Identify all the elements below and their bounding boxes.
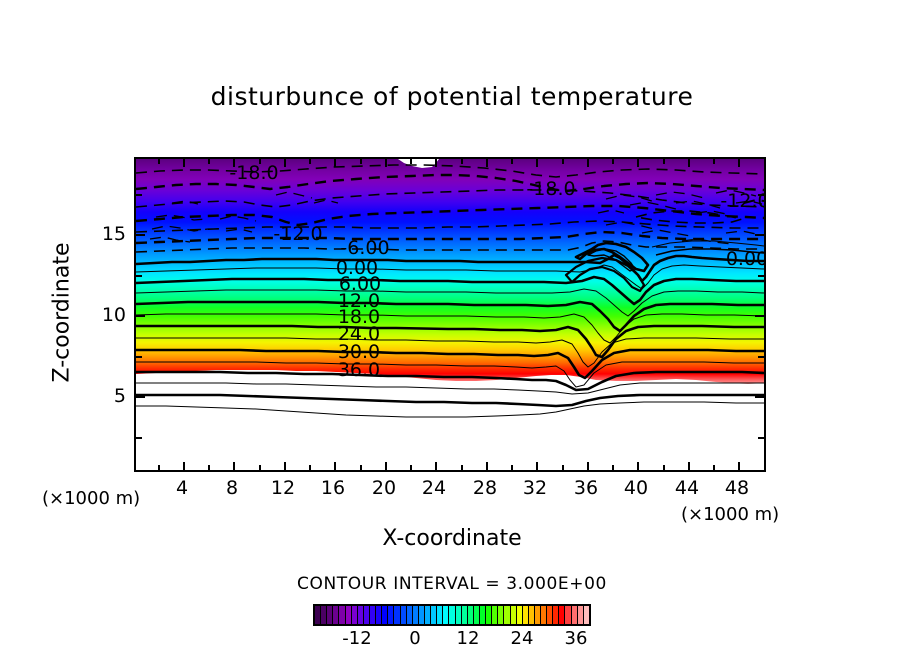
y-axis-units-label: (×1000 m) <box>42 488 140 509</box>
x-tick-label: 48 <box>717 477 757 499</box>
contour-label: -6.00 <box>340 237 389 259</box>
colorbar-tick-label: 0 <box>390 628 440 649</box>
contour-label: -12.0 <box>720 190 764 212</box>
y-tick-label: 15 <box>86 223 126 245</box>
x-tick-label: 4 <box>162 477 202 499</box>
x-tick-label: 32 <box>515 477 555 499</box>
contour-label: 36.0 <box>338 359 380 381</box>
x-tick-label: 16 <box>313 477 353 499</box>
colorbar-tick-label: -12 <box>332 628 382 649</box>
contour-label: -12.0 <box>273 223 322 245</box>
contour-label: -18.0 <box>229 162 278 184</box>
colorbar-cell <box>584 606 589 624</box>
contour-interval-caption: CONTOUR INTERVAL = 3.000E+00 <box>0 574 904 594</box>
contour-plot-area: -18.0 -18.0 -12.0 -12.0 -6.00 0.00 0.00 … <box>134 157 766 472</box>
x-tick-label: 44 <box>667 477 707 499</box>
x-tick-label: 28 <box>465 477 505 499</box>
x-axis-units-label: (×1000 m) <box>681 504 779 525</box>
y-tick-label: 5 <box>86 385 126 407</box>
contour-field: -18.0 -18.0 -12.0 -12.0 -6.00 0.00 0.00 … <box>136 159 764 470</box>
x-axis-title: X-coordinate <box>0 526 904 551</box>
x-tick-label: 24 <box>414 477 454 499</box>
x-tick-label: 36 <box>566 477 606 499</box>
colorbar-tick-label: 36 <box>551 628 601 649</box>
y-tick-label: 10 <box>86 304 126 326</box>
x-tick-label: 8 <box>212 477 252 499</box>
contour-label: -18.0 <box>526 178 575 200</box>
x-tick-label: 20 <box>364 477 404 499</box>
y-axis-title: Z-coordinate <box>50 213 75 413</box>
page-title: disturbunce of potential temperature <box>0 82 904 111</box>
figure-canvas: disturbunce of potential temperature <box>0 0 904 654</box>
colorbar <box>313 604 591 626</box>
x-tick-label: 40 <box>616 477 656 499</box>
contour-label: 0.00 <box>726 248 764 270</box>
colorbar-tick-label: 12 <box>443 628 493 649</box>
x-tick-label: 12 <box>263 477 303 499</box>
colorbar-tick-label: 24 <box>497 628 547 649</box>
